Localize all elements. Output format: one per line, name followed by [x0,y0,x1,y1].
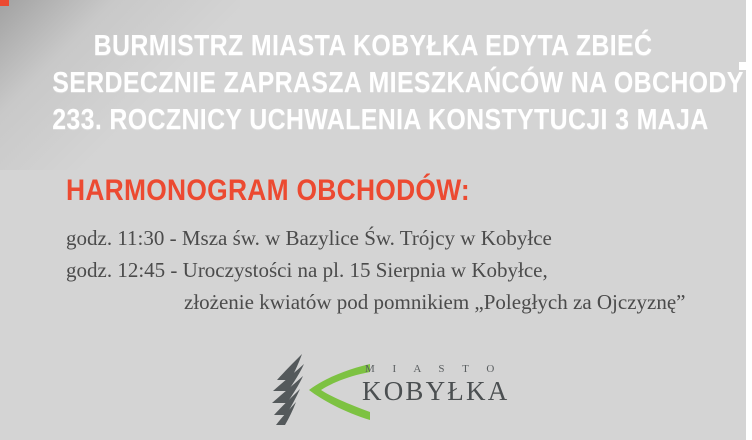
logo-line-kobylka: KOBYŁKA [362,376,512,406]
schedule-item: złożenie kwiatów pod pomnikiem „Poległyc… [66,286,706,318]
headline-line-2: SERDECZNIE ZAPRASZA MIESZKAŃCÓW NA OBCHO… [52,65,694,102]
headline-line-1: BURMISTRZ MIASTA KOBYŁKA EDYTA ZBIEĆ [52,28,694,65]
kobylka-logo: M I A S T O KOBYŁKA [258,348,508,432]
schedule-item: godz. 12:45 - Uroczystości na pl. 15 Sie… [66,254,706,286]
headline-line-3: 233. ROCZNICY UCHWALENIA KONSTYTUCJI 3 M… [52,102,694,139]
schedule-list: godz. 11:30 - Msza św. w Bazylice Św. Tr… [66,222,706,318]
poster-canvas: BURMISTRZ MIASTA KOBYŁKA EDYTA ZBIEĆ SER… [0,0,752,440]
logo-line-miasto: M I A S T O [362,362,512,376]
logo-wordmark: M I A S T O KOBYŁKA [362,362,512,406]
schedule-heading: HARMONOGRAM OBCHODÓW: [66,174,470,208]
right-edge-strip [746,0,752,440]
corner-accent-dot [0,0,9,6]
kobylka-feather-and-swoosh-icon [258,348,376,432]
headline: BURMISTRZ MIASTA KOBYŁKA EDYTA ZBIEĆ SER… [52,28,694,139]
schedule-item: godz. 11:30 - Msza św. w Bazylice Św. Tr… [66,222,706,254]
